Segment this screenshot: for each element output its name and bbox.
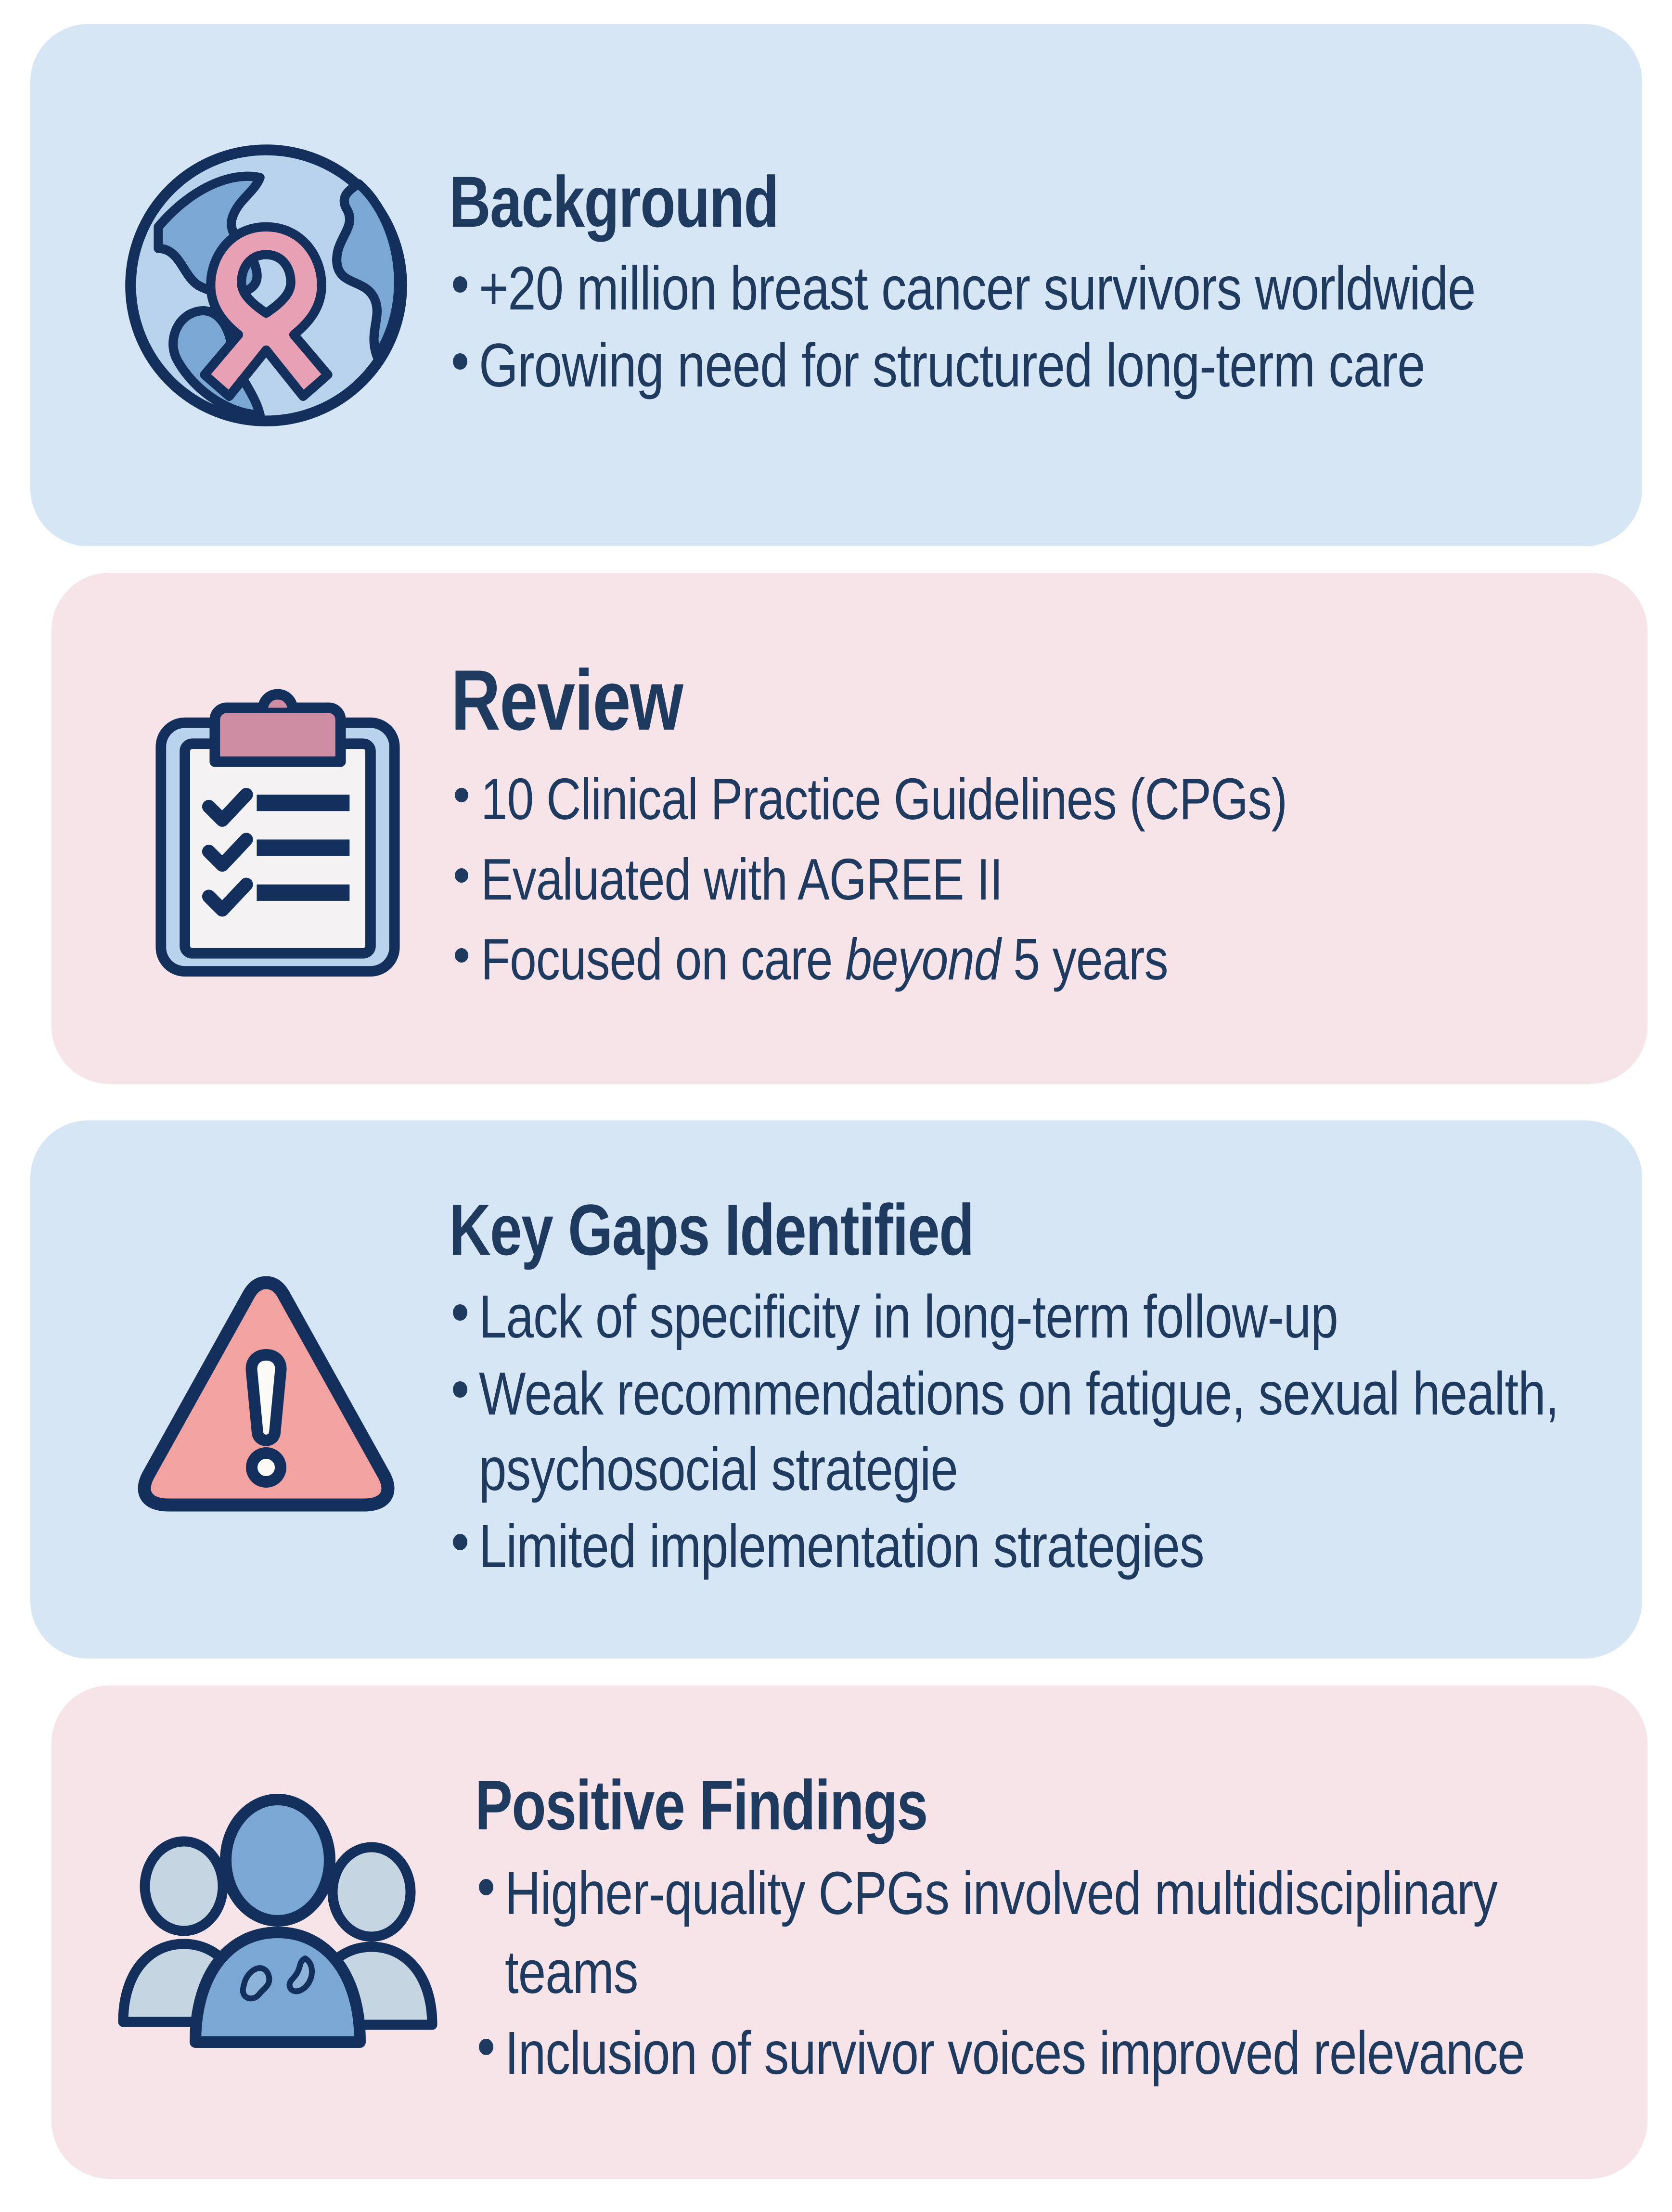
card-key-gaps: Key Gaps Identified Lack of specificity … (30, 1120, 1642, 1659)
bullet-text: Limited implementation strategies (479, 1509, 1614, 1584)
bullet-item: Lack of specificity in long-term follow-… (449, 1279, 1613, 1354)
bullet-text: Weak recommendations on fatigue, sexual … (479, 1356, 1614, 1506)
bullet-text: +20 million breast cancer survivors worl… (479, 251, 1604, 326)
card-review-title: Review (451, 656, 1377, 744)
card-background-title: Background (449, 165, 1373, 239)
bullet-text: Focused on care beyond 5 years (481, 920, 1609, 998)
warning-triangle-icon-wrap (83, 1260, 449, 1519)
globe-ribbon-icon-wrap (83, 131, 449, 439)
bullet-item: Higher-quality CPGs involved multidiscip… (475, 1854, 1619, 2012)
bullet-item: Focused on care beyond 5 years (451, 920, 1609, 998)
bullet-text: Evaluated with AGREE II (481, 840, 1609, 918)
bullet-text: Inclusion of survivor voices improved re… (505, 2014, 1619, 2093)
card-key-gaps-title: Key Gaps Identified (449, 1193, 1380, 1267)
bullet-text: 10 Clinical Practice Guidelines (CPGs) (481, 760, 1609, 838)
globe-ribbon-icon (112, 131, 420, 439)
bullet-item: Weak recommendations on fatigue, sexual … (449, 1356, 1613, 1506)
card-positive-findings-bullets: Higher-quality CPGs involved multidiscip… (475, 1854, 1619, 2094)
clipboard-checklist-icon (143, 674, 412, 982)
bullet-text: Growing need for structured long-term ca… (479, 328, 1604, 403)
card-positive-findings: Positive Findings Higher-quality CPGs in… (51, 1685, 1647, 2179)
people-group-icon-wrap (80, 1788, 475, 2077)
bullet-item: Limited implementation strategies (449, 1509, 1613, 1584)
bullet-item: Evaluated with AGREE II (451, 840, 1609, 918)
card-positive-findings-title: Positive Findings (475, 1770, 1390, 1841)
people-group-icon (109, 1788, 446, 2077)
card-background: Background +20 million breast cancer sur… (30, 24, 1642, 546)
bullet-item: Inclusion of survivor voices improved re… (475, 2014, 1619, 2093)
bullet-text: Higher-quality CPGs involved multidiscip… (505, 1854, 1619, 2012)
card-key-gaps-bullets: Lack of specificity in long-term follow-… (449, 1279, 1613, 1586)
card-background-content: Background +20 million breast cancer sur… (449, 165, 1642, 405)
bullet-text: Lack of specificity in long-term follow-… (479, 1279, 1614, 1354)
card-review-content: Review 10 Clinical Practice Guidelines (… (451, 656, 1647, 1000)
bullet-item: 10 Clinical Practice Guidelines (CPGs) (451, 760, 1609, 838)
card-review-bullets: 10 Clinical Practice Guidelines (CPGs) E… (451, 760, 1609, 1000)
warning-triangle-icon (122, 1260, 411, 1519)
card-positive-findings-content: Positive Findings Higher-quality CPGs in… (475, 1770, 1647, 2094)
clipboard-checklist-icon-wrap (104, 674, 451, 982)
bullet-item: +20 million breast cancer survivors worl… (449, 251, 1604, 326)
card-key-gaps-content: Key Gaps Identified Lack of specificity … (449, 1193, 1642, 1586)
card-background-bullets: +20 million breast cancer survivors worl… (449, 251, 1604, 405)
bullet-item: Growing need for structured long-term ca… (449, 328, 1604, 403)
card-review: Review 10 Clinical Practice Guidelines (… (51, 573, 1647, 1084)
